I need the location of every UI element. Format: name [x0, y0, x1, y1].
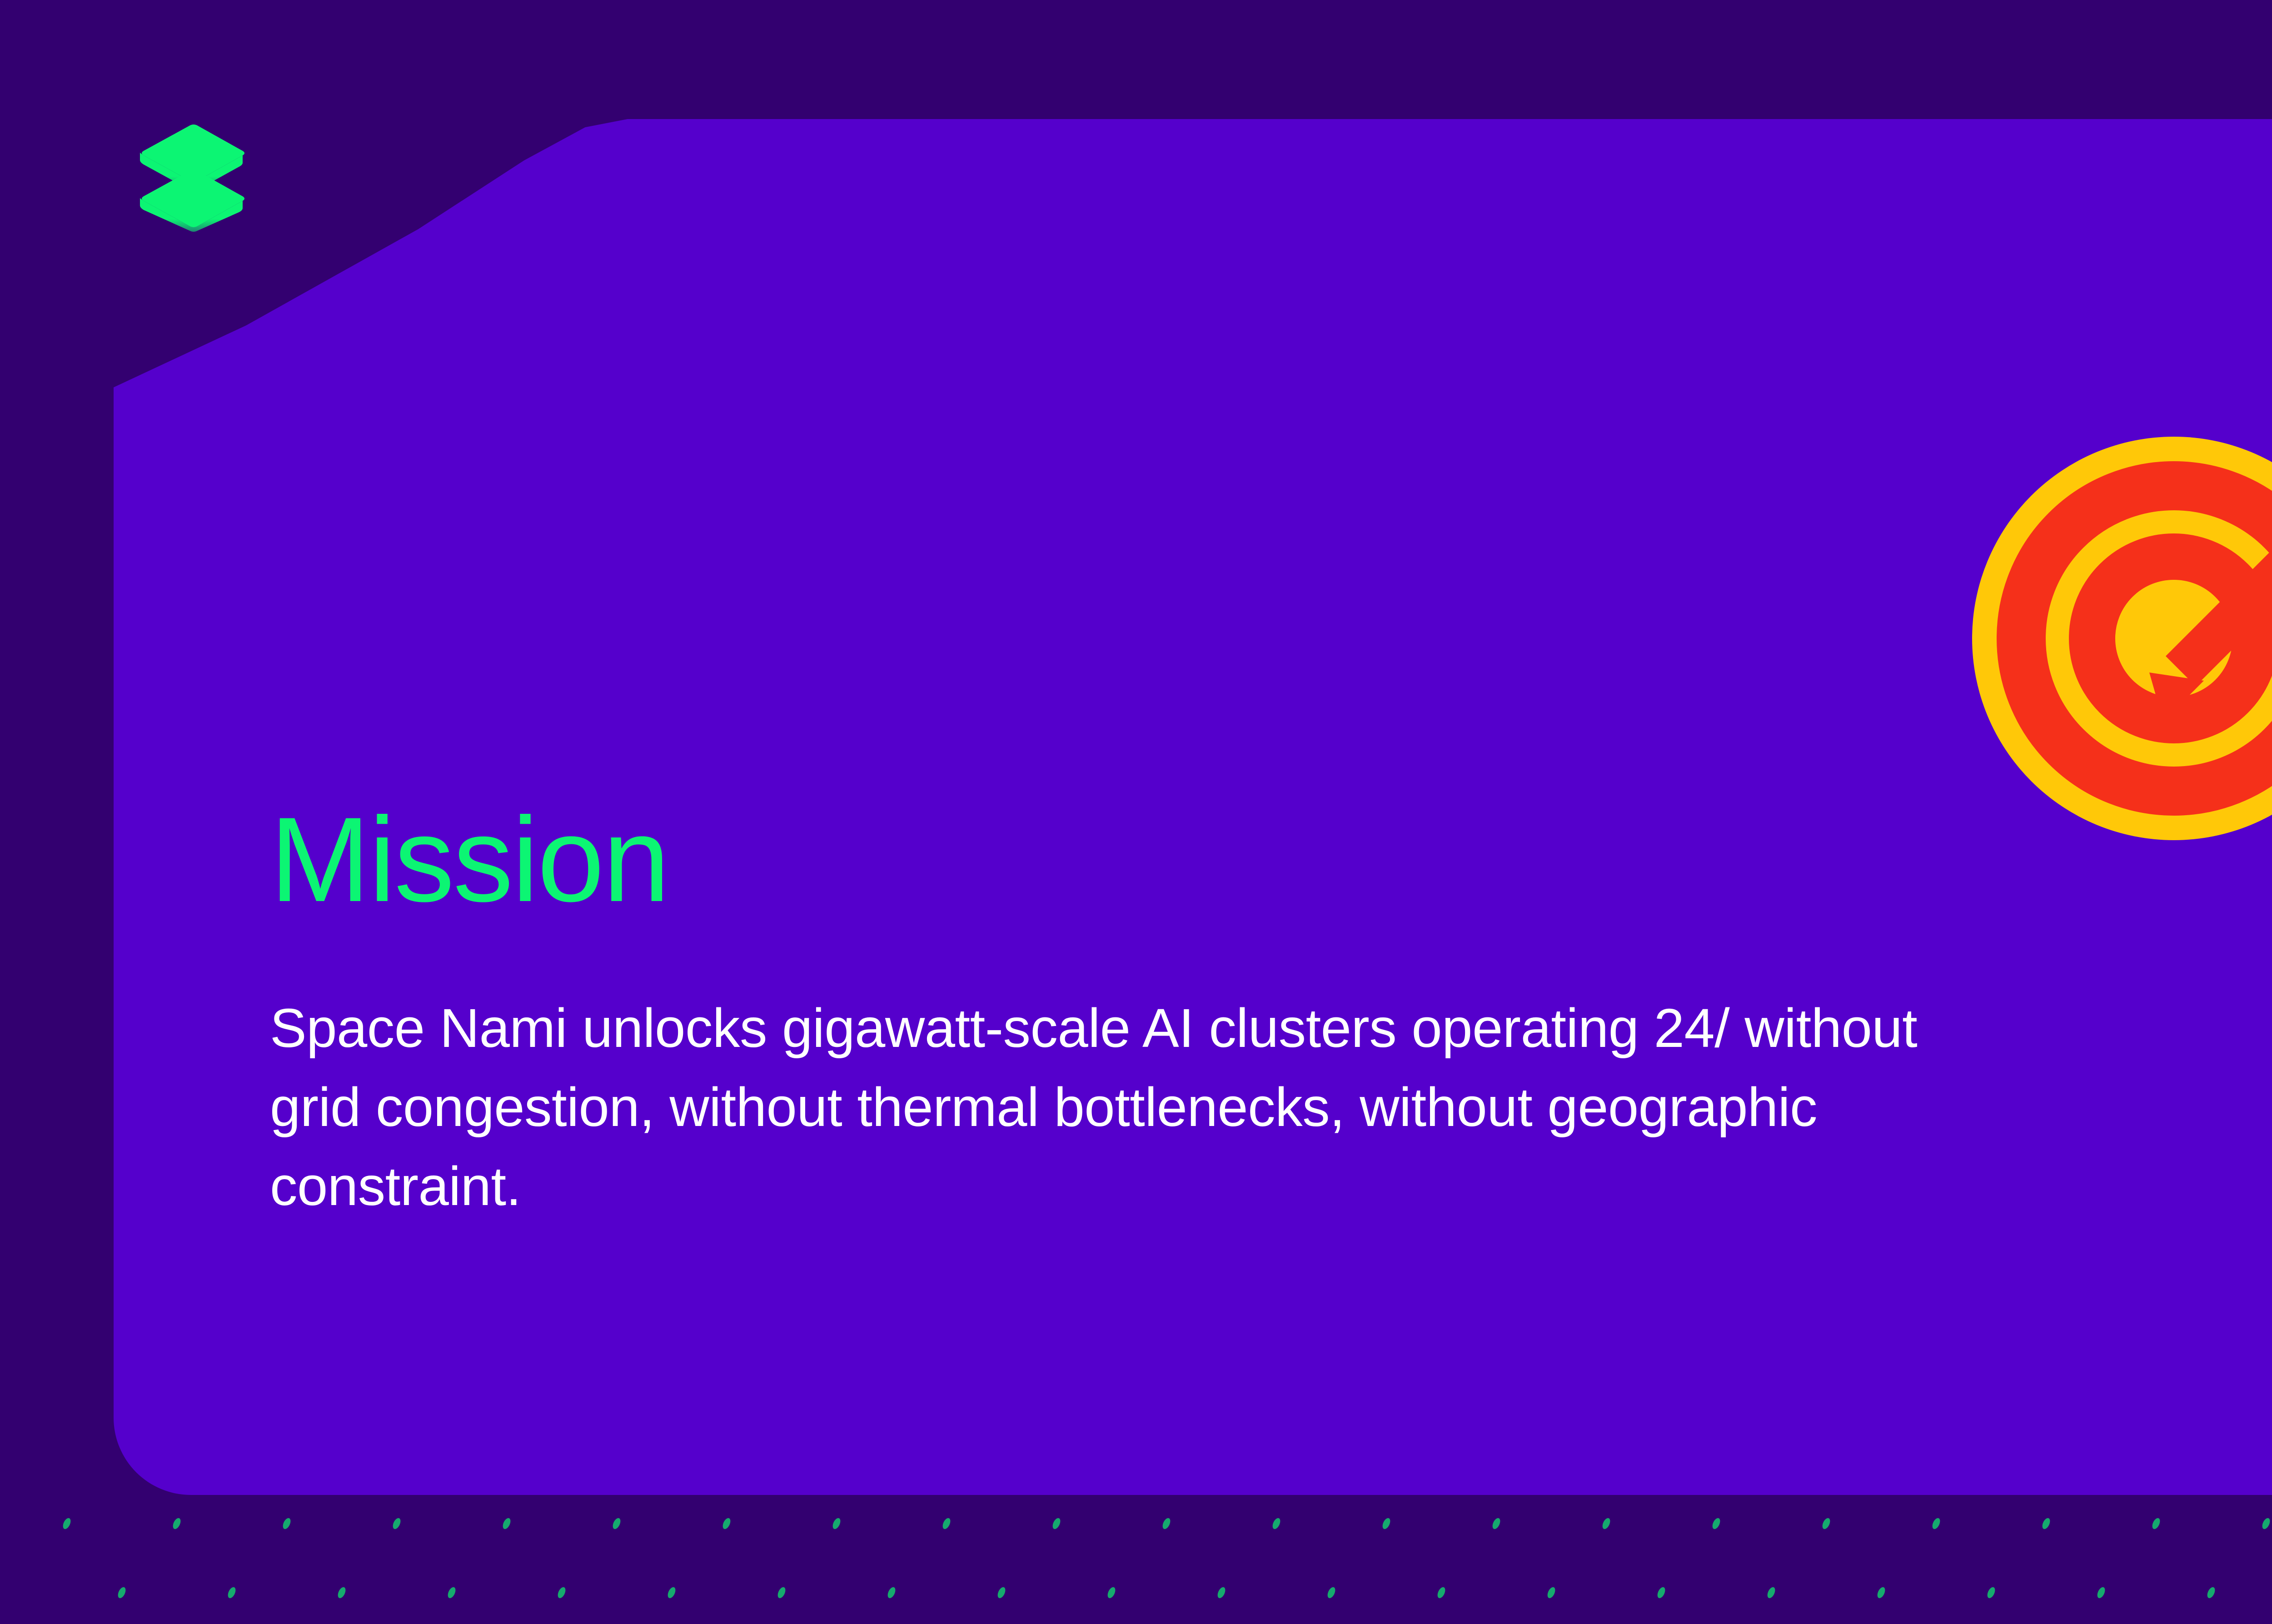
background-dot	[61, 1517, 72, 1530]
background-dot	[1436, 1586, 1447, 1599]
page-title: Mission	[270, 800, 2269, 920]
logo-s-mark-icon	[135, 119, 271, 233]
background-dot	[1381, 1517, 1392, 1530]
card-text-block: Mission Space Nami unlocks gigawatt-scal…	[270, 800, 2269, 1226]
background-dot	[666, 1586, 677, 1599]
background-dot	[2206, 1586, 2217, 1599]
background-dot	[1161, 1517, 1172, 1530]
background-dot	[336, 1586, 347, 1599]
background-dot	[1766, 1586, 1777, 1599]
background-dot	[831, 1517, 842, 1530]
background-dot	[391, 1517, 402, 1530]
background-dot	[2151, 1517, 2162, 1530]
background-dot	[226, 1586, 237, 1599]
background-dot	[1876, 1586, 1887, 1599]
background-dot	[2261, 1517, 2272, 1530]
background-dot	[941, 1517, 952, 1530]
background-dot	[776, 1586, 787, 1599]
background-dot	[1986, 1586, 1997, 1599]
background-dot	[116, 1586, 127, 1599]
background-dot	[2096, 1586, 2107, 1599]
background-dot	[171, 1517, 182, 1530]
background-dot	[611, 1517, 622, 1530]
background-dot	[721, 1517, 732, 1530]
background-dot	[1931, 1517, 1942, 1530]
background-dot	[1656, 1586, 1667, 1599]
background-dot	[556, 1586, 567, 1599]
background-dot	[1051, 1517, 1062, 1530]
background-dot	[446, 1586, 457, 1599]
background-dot	[1271, 1517, 1282, 1530]
background-dot	[1546, 1586, 1557, 1599]
background-dot	[1216, 1586, 1227, 1599]
background-dot	[886, 1586, 897, 1599]
card-body-text: Space Nami unlocks gigawatt-scale AI clu…	[270, 988, 1988, 1226]
background-dot	[1491, 1517, 1502, 1530]
background-dot	[996, 1586, 1007, 1599]
space-nami-s-logo[interactable]	[135, 119, 271, 233]
background-dot	[1821, 1517, 1832, 1530]
background-dot	[1601, 1517, 1612, 1530]
background-dot	[281, 1517, 292, 1530]
background-dot	[1106, 1586, 1117, 1599]
background-dot	[2041, 1517, 2052, 1530]
background-dot	[1711, 1517, 1722, 1530]
background-dot	[501, 1517, 512, 1530]
target-with-arrow-icon	[1958, 318, 2272, 850]
background-dot	[1326, 1586, 1337, 1599]
